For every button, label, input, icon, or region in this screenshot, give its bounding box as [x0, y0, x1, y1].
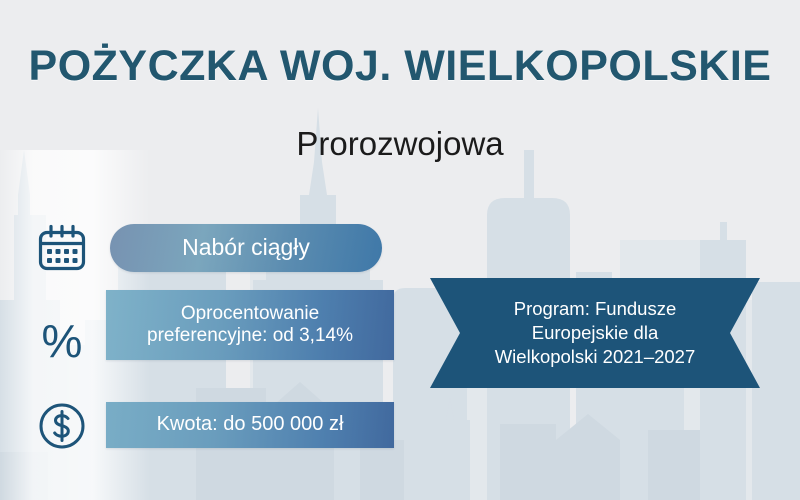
interest-rate-line-1: Oprocentowanie — [147, 303, 353, 325]
ribbon-line-3: Wielkopolski 2021–2027 — [495, 345, 696, 369]
ribbon-label: Program: Fundusze Europejskie dla Wielko… — [430, 278, 760, 388]
infographic-banner: POŻYCZKA WOJ. WIELKOPOLSKIE Prorozwojowa… — [0, 0, 800, 500]
interest-rate-line-2: preferencyjne: od 3,14% — [147, 325, 353, 347]
info-box-interest-rate-text: Oprocentowanie preferencyjne: od 3,14% — [147, 303, 353, 348]
info-box-amount[interactable]: Kwota: do 500 000 zł — [106, 402, 394, 448]
ribbon-line-1: Program: Fundusze — [514, 297, 676, 321]
ribbon-line-2: Europejskie dla — [532, 321, 659, 345]
info-box-amount-text: Kwota: do 500 000 zł — [157, 413, 344, 437]
info-box-interest-rate[interactable]: Oprocentowanie preferencyjne: od 3,14% — [106, 290, 394, 360]
program-ribbon: Program: Fundusze Europejskie dla Wielko… — [430, 278, 760, 388]
status-badge-recruitment[interactable]: Nabór ciągły — [110, 224, 382, 272]
status-badge-label: Nabór ciągły — [182, 234, 310, 261]
calendar-icon — [36, 222, 88, 274]
page-title: POŻYCZKA WOJ. WIELKOPOLSKIE — [0, 42, 800, 91]
dollar-coin-icon — [36, 400, 88, 452]
percent-glyph: % — [36, 315, 88, 367]
percent-icon: % — [36, 315, 88, 367]
page-subtitle: Prorozwojowa — [0, 125, 800, 163]
